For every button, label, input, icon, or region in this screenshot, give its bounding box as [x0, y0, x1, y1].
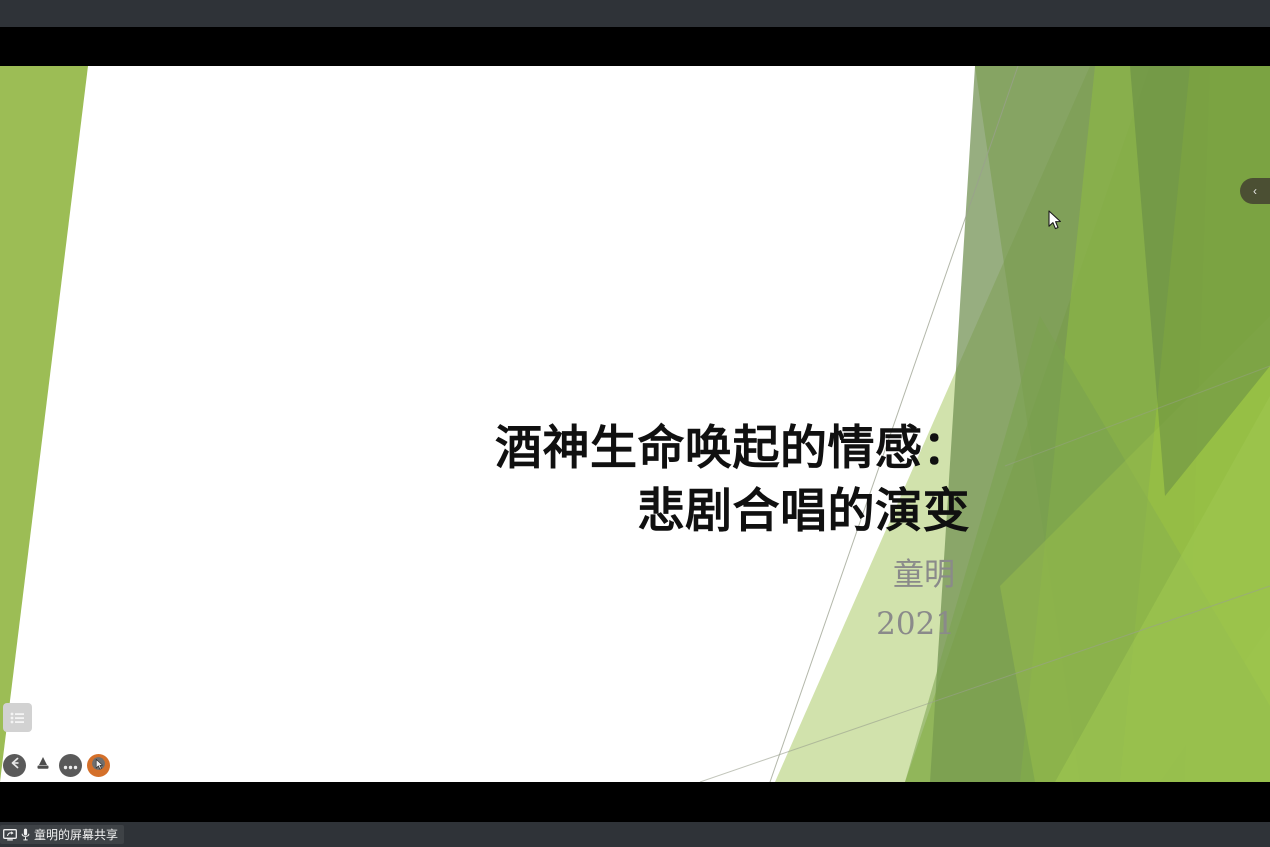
more-options-button[interactable]: [59, 754, 82, 777]
bulleted-list-icon: [10, 712, 25, 724]
top-letterbox: [0, 27, 1270, 66]
laser-pointer-button[interactable]: [87, 754, 110, 777]
expand-panel-button[interactable]: ‹: [1240, 178, 1270, 204]
slide-subtitle: 童明 2021: [440, 551, 955, 649]
arrow-left-circle-icon: [8, 756, 22, 775]
pen-tool-button[interactable]: [31, 754, 54, 777]
screen-share-icon: [3, 829, 17, 841]
outline-view-button[interactable]: [3, 703, 32, 732]
screen-share-window: 酒神生命唤起的情感： 悲剧合唱的演变 童明 2021: [0, 0, 1270, 847]
top-chrome-bar: [0, 0, 1270, 27]
taskbar: 童明的屏幕共享: [0, 822, 1270, 847]
microphone-icon: [21, 828, 30, 841]
previous-slide-button[interactable]: [3, 754, 26, 777]
chevron-left-icon: ‹: [1253, 185, 1257, 197]
screen-share-status-chip[interactable]: 童明的屏幕共享: [0, 825, 124, 844]
pen-marker-icon: [34, 755, 52, 777]
ellipsis-icon: [63, 757, 78, 775]
slideshow-controls: [3, 754, 110, 777]
slide-title: 酒神生命唤起的情感： 悲剧合唱的演变: [300, 418, 970, 543]
laser-pointer-icon: [91, 756, 106, 776]
bottom-letterbox: [0, 782, 1270, 822]
screen-share-label: 童明的屏幕共享: [34, 829, 118, 841]
slide-stage[interactable]: 酒神生命唤起的情感： 悲剧合唱的演变 童明 2021: [0, 66, 1270, 782]
